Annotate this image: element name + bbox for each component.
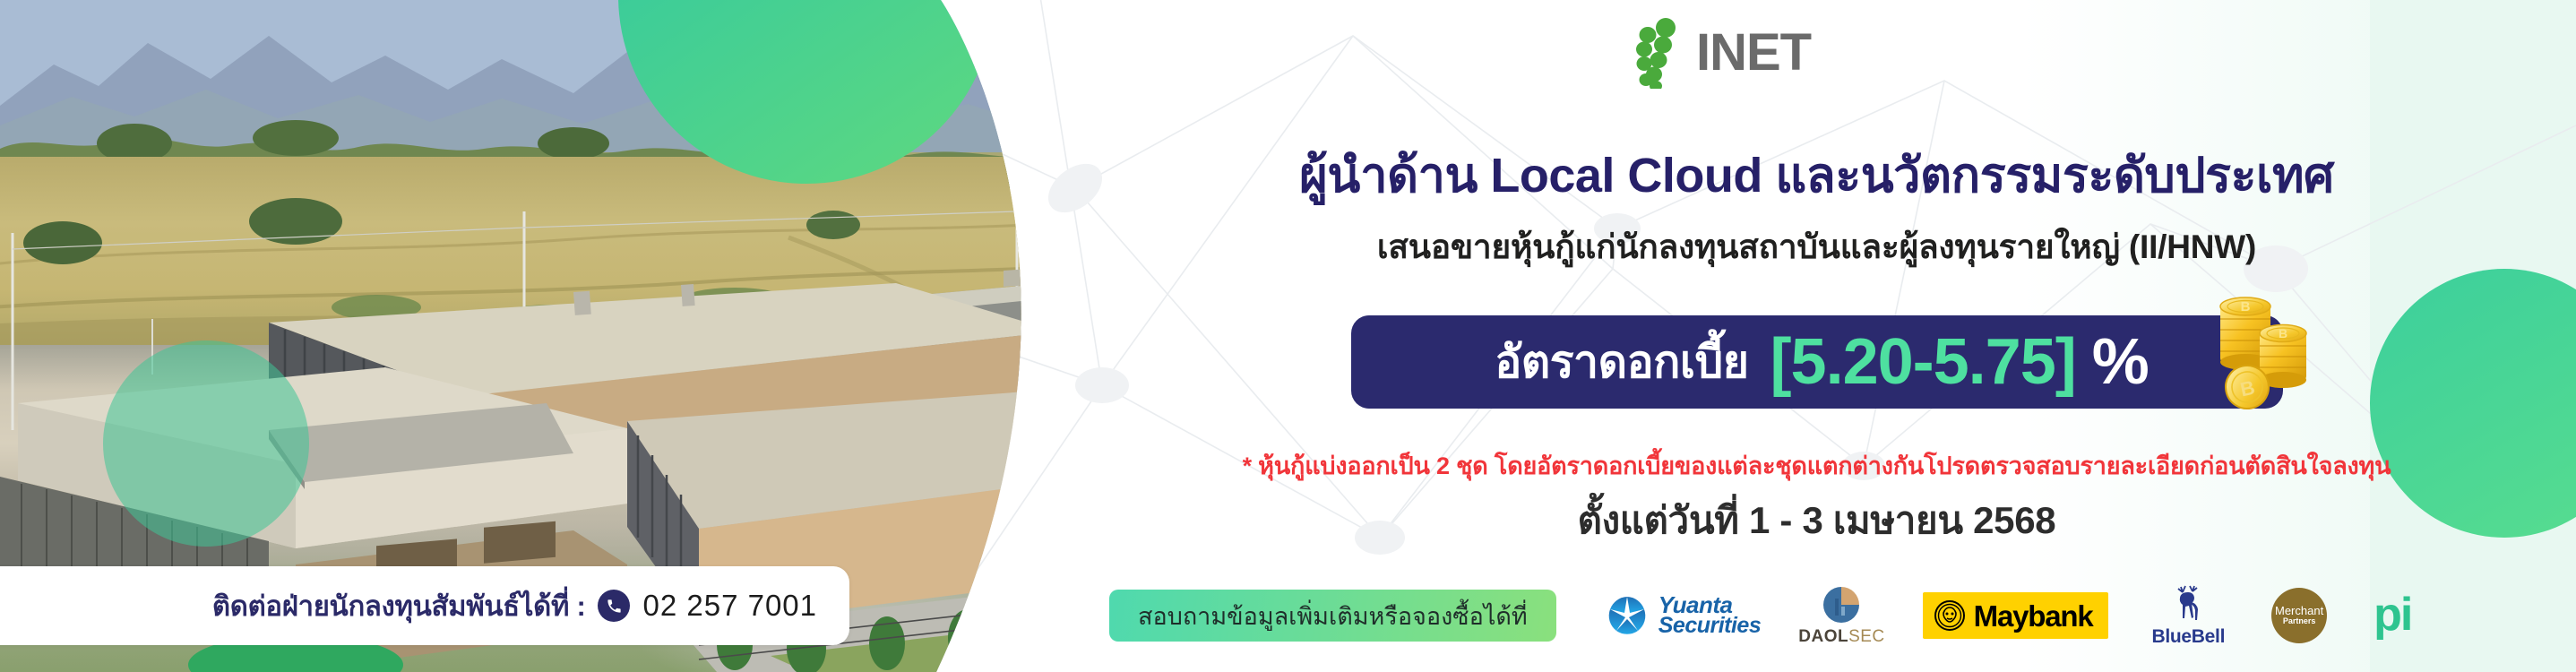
phone-icon xyxy=(598,590,630,622)
partner-logo-maybank[interactable]: Maybank xyxy=(1923,592,2109,639)
contact-phone-number[interactable]: 02 257 7001 xyxy=(642,589,817,623)
maybank-box: Maybank xyxy=(1923,592,2109,639)
maybank-tiger-icon xyxy=(1934,599,1966,632)
content-column: INET ผู้นำด้าน Local Cloud และนวัตกรรมระ… xyxy=(1057,0,2576,672)
disclaimer-text: * หุ้นกู้แบ่งออกเป็น 2 ชุด โดยอัตราดอกเบ… xyxy=(1057,446,2576,485)
cta-inquiry-button[interactable]: สอบถามข้อมูลเพิ่มเติมหรือจองซื้อได้ที่ xyxy=(1109,590,1556,642)
inet-bond-offering-banner: ติดต่อฝ่ายนักลงทุนสัมพันธ์ได้ที่ : 02 25… xyxy=(0,0,2576,672)
bluebell-deer-icon xyxy=(2168,584,2208,625)
inet-logo-text: INET xyxy=(1696,27,1811,79)
daol-circle-icon xyxy=(1818,585,1865,625)
yuanta-line2: Securities xyxy=(1658,616,1762,637)
rate-unit: % xyxy=(2092,330,2150,394)
yuanta-star-icon xyxy=(1605,593,1650,638)
page-subtitle: เสนอขายหุ้นกู้แก่นักลงทุนสถาบันและผู้ลงท… xyxy=(1057,220,2576,273)
merchant-line2: Partners xyxy=(2283,617,2316,625)
svg-text:B: B xyxy=(2240,299,2250,314)
partner-logo-yuanta[interactable]: Yuanta Securities xyxy=(1605,593,1762,638)
inet-dots-logo-icon xyxy=(1626,17,1691,89)
rate-badge-wrapper: อัตราดอกเบี้ย [5.20-5.75] % xyxy=(1057,315,2576,409)
investor-relations-contact-box[interactable]: ติดต่อฝ่ายนักลงทุนสัมพันธ์ได้ที่ : 02 25… xyxy=(0,566,849,645)
cta-label: สอบถามข้อมูลเพิ่มเติมหรือจองซื้อได้ที่ xyxy=(1138,597,1528,635)
merchant-line1: Merchant xyxy=(2275,605,2323,617)
daol-wordmark: DAOLSEC xyxy=(1798,627,1884,647)
bluebell-wordmark: BlueBell xyxy=(2151,626,2225,648)
inet-logo[interactable]: INET xyxy=(1626,16,1895,90)
rate-value: [5.20-5.75] xyxy=(1770,330,2076,394)
svg-text:B: B xyxy=(2278,326,2287,340)
merchant-circle-icon: Merchant Partners xyxy=(2271,588,2327,643)
page-title: ผู้นำด้าน Local Cloud และนวัตกรรมระดับปร… xyxy=(1057,136,2576,213)
partner-logo-bluebell[interactable]: BlueBell xyxy=(2151,584,2225,648)
partner-row: สอบถามข้อมูลเพิ่มเติมหรือจองซื้อได้ที่ xyxy=(1109,575,2561,656)
pi-wordmark: pi xyxy=(2374,597,2411,634)
contact-label: ติดต่อฝ่ายนักลงทุนสัมพันธ์ได้ที่ : xyxy=(212,583,586,628)
partner-logo-pi[interactable]: pi xyxy=(2374,597,2411,634)
daol-name-main: DAOL xyxy=(1798,627,1848,646)
maybank-wordmark: Maybank xyxy=(1974,601,2093,631)
rate-label: อัตราดอกเบี้ย xyxy=(1495,327,1748,398)
partner-logo-daol[interactable]: DAOLSEC xyxy=(1798,585,1884,647)
decorative-green-circle-bottom xyxy=(103,340,309,547)
yuanta-wordmark: Yuanta Securities xyxy=(1658,594,1762,637)
gold-coins-icon: B B xyxy=(2208,287,2321,412)
interest-rate-badge: อัตราดอกเบี้ย [5.20-5.75] % xyxy=(1351,315,2283,409)
daol-name-sub: SEC xyxy=(1848,627,1885,646)
partner-logo-merchant-partners[interactable]: Merchant Partners xyxy=(2271,588,2327,643)
offering-date-range: ตั้งแต่วันที่ 1 - 3 เมษายน 2568 xyxy=(1057,491,2576,550)
